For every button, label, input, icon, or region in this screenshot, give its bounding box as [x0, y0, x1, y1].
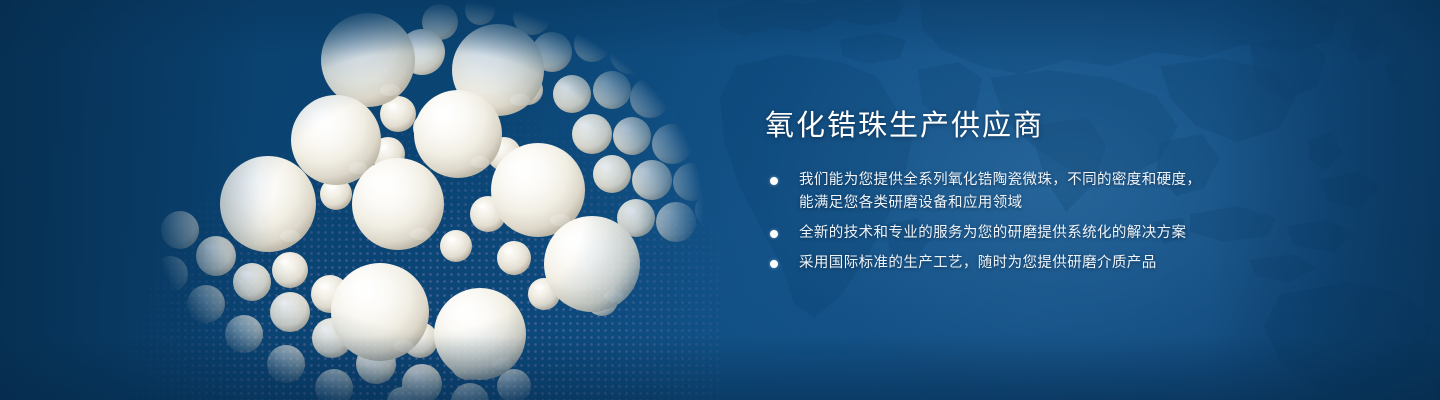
bullet-dot-icon: [770, 177, 778, 185]
bullet-dot-icon: [770, 230, 778, 238]
bullet-line: 能满足您各类研磨设备和应用领域: [799, 192, 1385, 215]
bullet-line: 我们能为您提供全系列氧化锆陶瓷微珠，不同的密度和硬度，: [799, 169, 1385, 192]
list-item: 我们能为您提供全系列氧化锆陶瓷微珠，不同的密度和硬度， 能满足您各类研磨设备和应…: [765, 169, 1385, 215]
bullet-line: 全新的技术和专业的服务为您的研磨提供系统化的解决方案: [799, 222, 1385, 245]
banner-content: 氧化锆珠生产供应商 我们能为您提供全系列氧化锆陶瓷微珠，不同的密度和硬度， 能满…: [765, 108, 1385, 282]
list-item: 全新的技术和专业的服务为您的研磨提供系统化的解决方案: [765, 222, 1385, 245]
bullet-dot-icon: [770, 260, 778, 268]
feature-list: 我们能为您提供全系列氧化锆陶瓷微珠，不同的密度和硬度， 能满足您各类研磨设备和应…: [765, 169, 1385, 275]
zirconia-beads-image: [140, 0, 740, 400]
promo-banner: 氧化锆珠生产供应商 我们能为您提供全系列氧化锆陶瓷微珠，不同的密度和硬度， 能满…: [0, 0, 1440, 400]
bullet-line: 采用国际标准的生产工艺，随时为您提供研磨介质产品: [799, 252, 1385, 275]
banner-headline: 氧化锆珠生产供应商: [765, 108, 1385, 144]
list-item: 采用国际标准的生产工艺，随时为您提供研磨介质产品: [765, 252, 1385, 275]
